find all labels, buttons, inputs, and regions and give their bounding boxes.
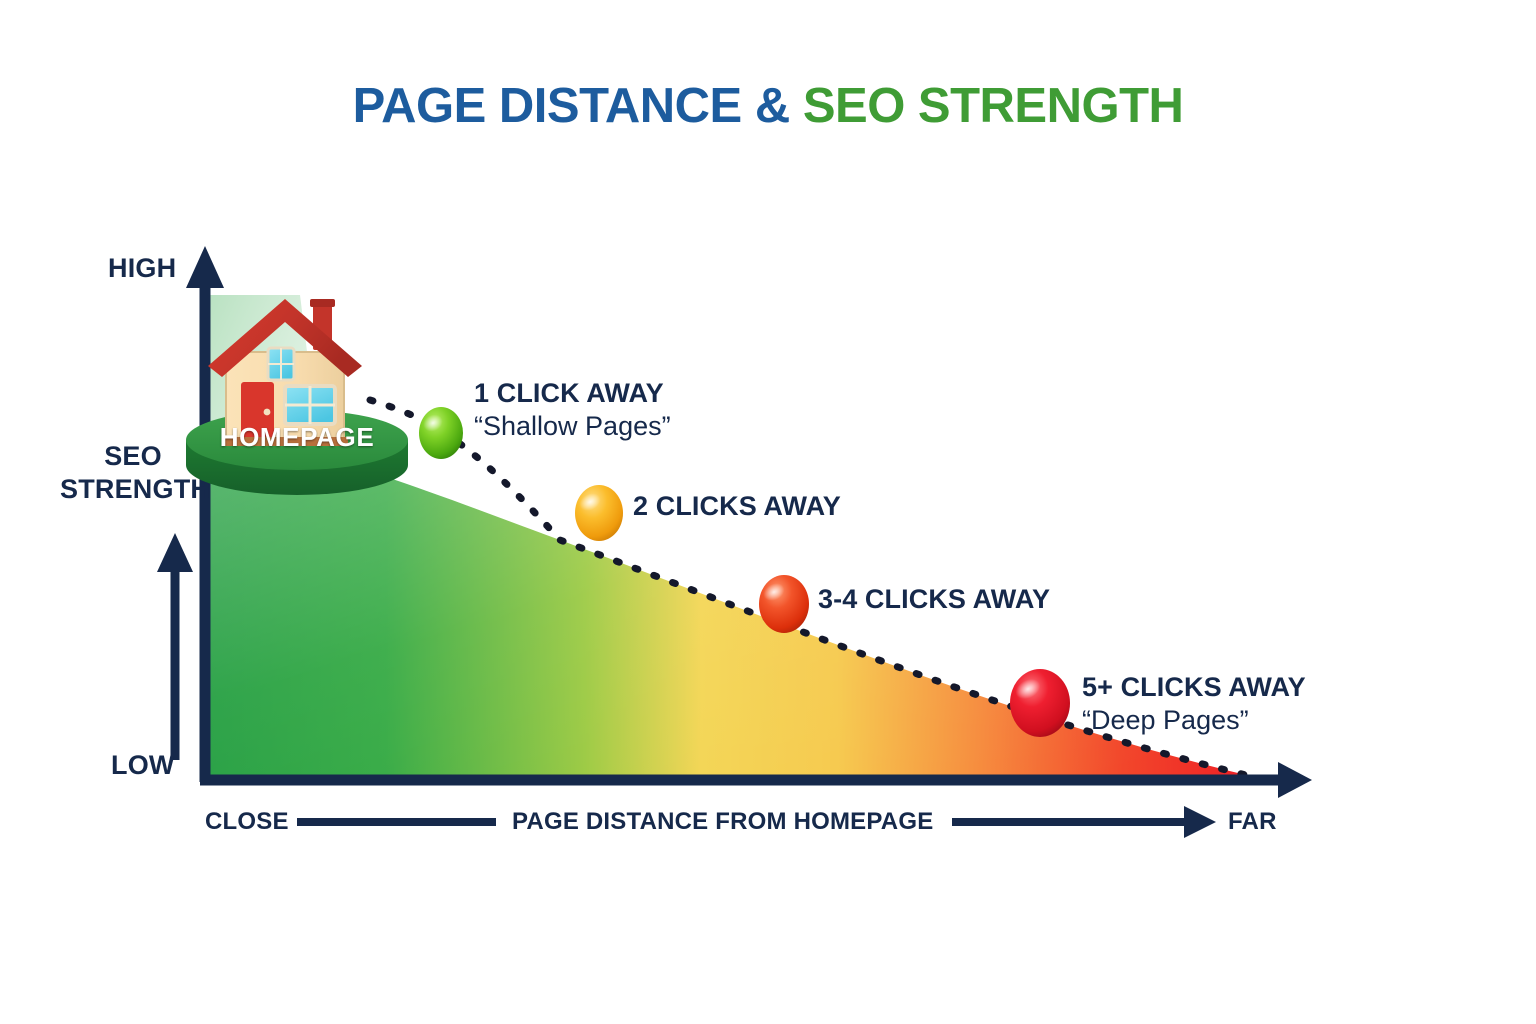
callout-1-click-sub: “Shallow Pages” <box>474 411 671 442</box>
data-point-2-clicks[interactable] <box>575 485 623 541</box>
house-icon <box>182 282 412 497</box>
y-axis-low-label: LOW <box>111 750 175 781</box>
chart-stage: HIGH LOW SEO STRENGTH CLOSE PAGE DISTANC… <box>0 0 1536 1024</box>
callout-1-click: 1 CLICK AWAY “Shallow Pages” <box>474 378 671 442</box>
callout-2-clicks: 2 CLICKS AWAY <box>633 491 841 522</box>
y-axis-title-line1: SEO <box>104 441 162 471</box>
callout-3-4-clicks-title: 3-4 CLICKS AWAY <box>818 584 1050 615</box>
callout-2-clicks-title: 2 CLICKS AWAY <box>633 491 841 522</box>
x-axis-far-label: FAR <box>1228 808 1277 836</box>
callout-5-plus-clicks: 5+ CLICKS AWAY “Deep Pages” <box>1082 672 1306 736</box>
seo-strength-direction-arrow <box>157 533 193 760</box>
data-point-3-4-clicks[interactable] <box>759 575 809 633</box>
y-axis-high-label: HIGH <box>108 253 176 284</box>
x-axis-close-label: CLOSE <box>205 808 289 836</box>
door-knob <box>264 409 271 416</box>
data-point-1-click[interactable] <box>419 407 463 459</box>
callout-5-plus-sub: “Deep Pages” <box>1082 705 1306 736</box>
callout-5-plus-title: 5+ CLICKS AWAY <box>1082 672 1306 703</box>
data-point-5-plus-clicks[interactable] <box>1010 669 1070 737</box>
callout-1-click-title: 1 CLICK AWAY <box>474 378 671 409</box>
house-base <box>222 437 348 446</box>
x-axis-title: PAGE DISTANCE FROM HOMEPAGE <box>512 808 933 836</box>
callout-3-4-clicks: 3-4 CLICKS AWAY <box>818 584 1050 615</box>
homepage-marker[interactable]: HOMEPAGE <box>182 282 412 497</box>
